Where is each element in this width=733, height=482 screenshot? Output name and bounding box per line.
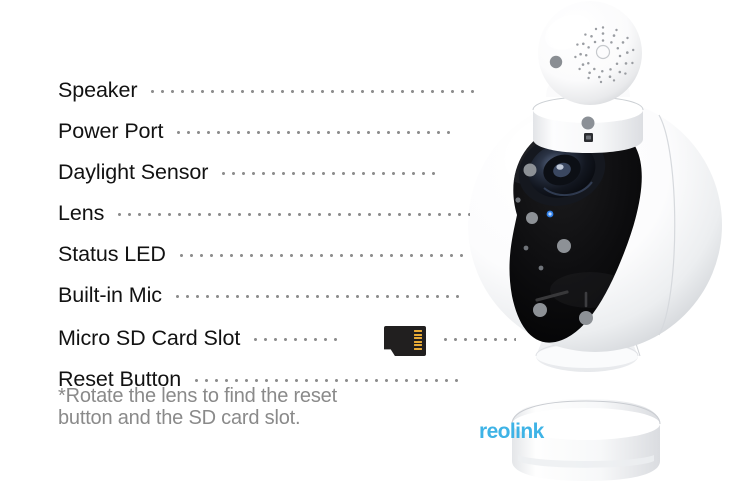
leader-line-power-port xyxy=(177,131,457,134)
callout-label-daylight-sensor: Daylight Sensor xyxy=(58,162,208,184)
footnote-line-2: button and the SD card slot. xyxy=(58,408,337,430)
leader-line-built-in-mic xyxy=(176,295,466,298)
callout-label-built-in-mic: Built-in Mic xyxy=(58,285,162,307)
built-in-mic xyxy=(579,311,593,325)
leader-line-speaker xyxy=(151,90,481,93)
callout-label-lens: Lens xyxy=(58,203,104,225)
ir-led xyxy=(526,212,538,224)
camera-illustration xyxy=(440,0,733,482)
built-in-mic xyxy=(533,303,547,317)
callout-status-led: Status LED xyxy=(58,240,470,270)
leader-line-lens xyxy=(118,213,470,216)
ir-led xyxy=(524,164,537,177)
micro-sd-card-contacts xyxy=(414,330,422,350)
callout-label-micro-sd-card-slot: Micro SD Card Slot xyxy=(58,328,240,350)
reolink-logo: reolink xyxy=(479,421,544,442)
callout-daylight-sensor: Daylight Sensor xyxy=(58,158,440,188)
speaker-ball xyxy=(538,1,642,105)
callout-label-status-led: Status LED xyxy=(58,244,166,266)
footnote: *Rotate the lens to find the reset butto… xyxy=(58,386,337,429)
leader-line-daylight-sensor xyxy=(222,172,440,175)
callout-micro-sd-card-slot: Micro SD Card Slot xyxy=(58,324,342,354)
ir-led xyxy=(557,239,571,253)
callout-speaker: Speaker xyxy=(58,76,481,106)
callout-lens: Lens xyxy=(58,199,470,229)
leader-line-status-led xyxy=(180,254,470,257)
footnote-line-1: *Rotate the lens to find the reset xyxy=(58,386,337,408)
status-led xyxy=(547,211,554,218)
leader-line-reset-button xyxy=(195,379,463,382)
callout-label-speaker: Speaker xyxy=(58,80,137,102)
micro-sd-card-icon xyxy=(384,326,426,356)
callout-built-in-mic: Built-in Mic xyxy=(58,281,466,311)
daylight-sensor xyxy=(550,56,562,68)
leader-line-micro-sd-card-slot-tail xyxy=(444,338,516,341)
leader-line-micro-sd-card-slot xyxy=(254,338,342,341)
product-callout-diagram: reolink Speaker Power Port Daylight Sens… xyxy=(0,0,733,482)
callout-label-power-port: Power Port xyxy=(58,121,163,143)
callout-power-port: Power Port xyxy=(58,117,457,147)
